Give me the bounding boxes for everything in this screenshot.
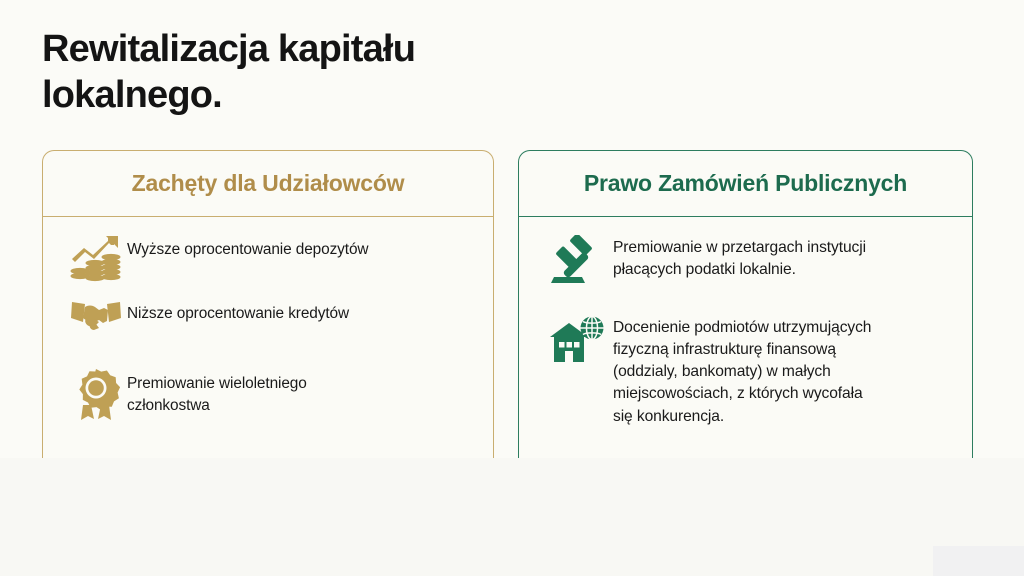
handshake-icon: [65, 297, 127, 351]
card-title-zachety: Zachęty dla Udziałowców: [132, 170, 405, 197]
page-title: Rewitalizacja kapitału lokalnego.: [42, 26, 642, 119]
card-zachety-dla-udzialowcow: Zachęty dla Udziałowców: [42, 150, 494, 458]
coins-growth-chart-icon: [65, 233, 127, 287]
list-item-label: Premiowanie w przetargach instytucji pła…: [613, 233, 866, 281]
list-item-label: Premiowanie wieloletniego członkostwa: [127, 367, 307, 417]
gavel-icon: [541, 233, 613, 287]
bottom-right-overlay-block: [933, 546, 1024, 576]
list-item-label: Docenienie podmiotów utrzymujących fizyc…: [613, 313, 871, 428]
slide-bottom-strip: [0, 458, 1024, 576]
list-item-label: Niższe oprocentowanie kredytów: [127, 297, 349, 325]
list-item-label: Wyższe oprocentowanie depozytów: [127, 233, 368, 261]
card-header-prawo: Prawo Zamówień Publicznych: [519, 151, 972, 217]
list-item: Wyższe oprocentowanie depozytów: [65, 233, 475, 287]
card-body-zachety: Wyższe oprocentowanie depozytów: [43, 217, 493, 421]
card-title-prawo: Prawo Zamówień Publicznych: [584, 170, 907, 197]
list-item: Niższe oprocentowanie kredytów: [65, 297, 475, 351]
list-item: Premiowanie wieloletniego członkostwa: [65, 367, 475, 421]
card-prawo-zamowien-publicznych: Prawo Zamówień Publicznych: [518, 150, 973, 458]
bank-globe-icon: [541, 313, 613, 367]
award-rosette-icon: [65, 367, 127, 421]
card-header-zachety: Zachęty dla Udziałowców: [43, 151, 493, 217]
list-item: Premiowanie w przetargach instytucji pła…: [541, 233, 954, 287]
slide-canvas: Rewitalizacja kapitału lokalnego. Zachęt…: [0, 0, 1024, 576]
card-body-prawo: Premiowanie w przetargach instytucji pła…: [519, 217, 972, 428]
list-item: Docenienie podmiotów utrzymujących fizyc…: [541, 313, 954, 428]
